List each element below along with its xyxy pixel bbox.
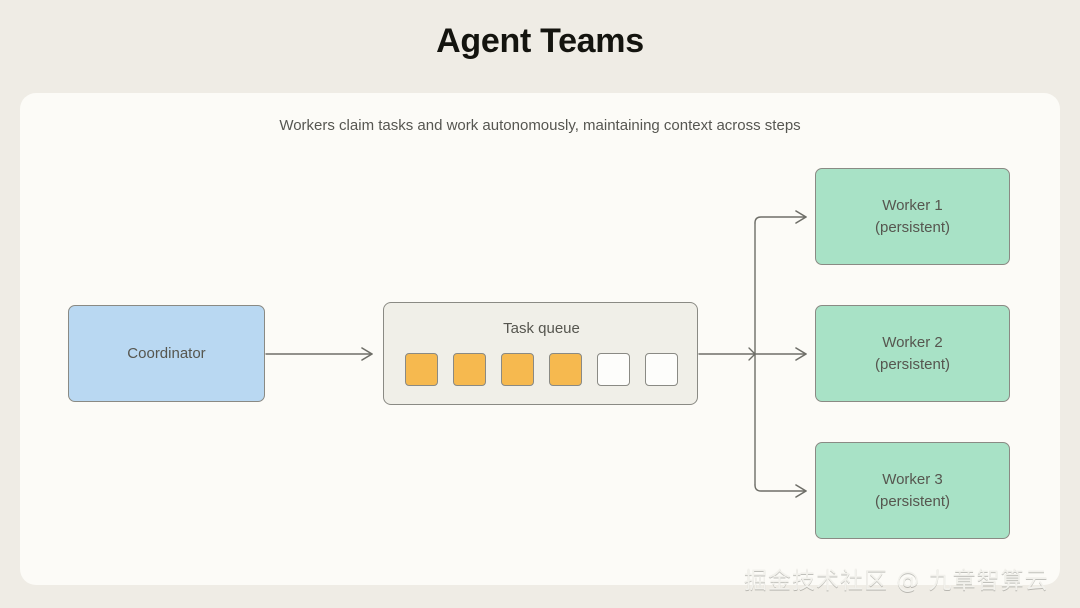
task-queue-slots <box>384 353 699 386</box>
worker-2-state: (persistent) <box>875 354 950 376</box>
queue-slot-filled[interactable] <box>405 353 438 386</box>
watermark: 掘金技术社区 @ 九章智算云 <box>744 561 1049 595</box>
worker-3-state: (persistent) <box>875 491 950 513</box>
queue-slot-empty[interactable] <box>645 353 678 386</box>
arrow-branch-to-worker-1 <box>755 217 806 223</box>
queue-slot-filled[interactable] <box>501 353 534 386</box>
worker-1-name: Worker 1 <box>875 195 950 217</box>
worker-1-state: (persistent) <box>875 217 950 239</box>
node-worker-1[interactable]: Worker 1 (persistent) <box>815 168 1010 265</box>
queue-slot-empty[interactable] <box>597 353 630 386</box>
node-coordinator[interactable]: Coordinator <box>68 305 265 402</box>
queue-slot-filled[interactable] <box>549 353 582 386</box>
queue-slot-filled[interactable] <box>453 353 486 386</box>
node-task-queue[interactable]: Task queue <box>383 302 698 405</box>
node-worker-2[interactable]: Worker 2 (persistent) <box>815 305 1010 402</box>
page-title: Agent Teams <box>0 22 1080 61</box>
coordinator-label: Coordinator <box>127 343 205 365</box>
worker-2-name: Worker 2 <box>875 332 950 354</box>
node-worker-3[interactable]: Worker 3 (persistent) <box>815 442 1010 539</box>
worker-3-name: Worker 3 <box>875 469 950 491</box>
diagram-canvas: Coordinator Task queue Worker 1 (persist… <box>20 93 1060 585</box>
arrow-branch-to-worker-3 <box>755 485 806 491</box>
diagram-panel: Workers claim tasks and work autonomousl… <box>20 93 1060 585</box>
task-queue-label: Task queue <box>384 320 699 337</box>
